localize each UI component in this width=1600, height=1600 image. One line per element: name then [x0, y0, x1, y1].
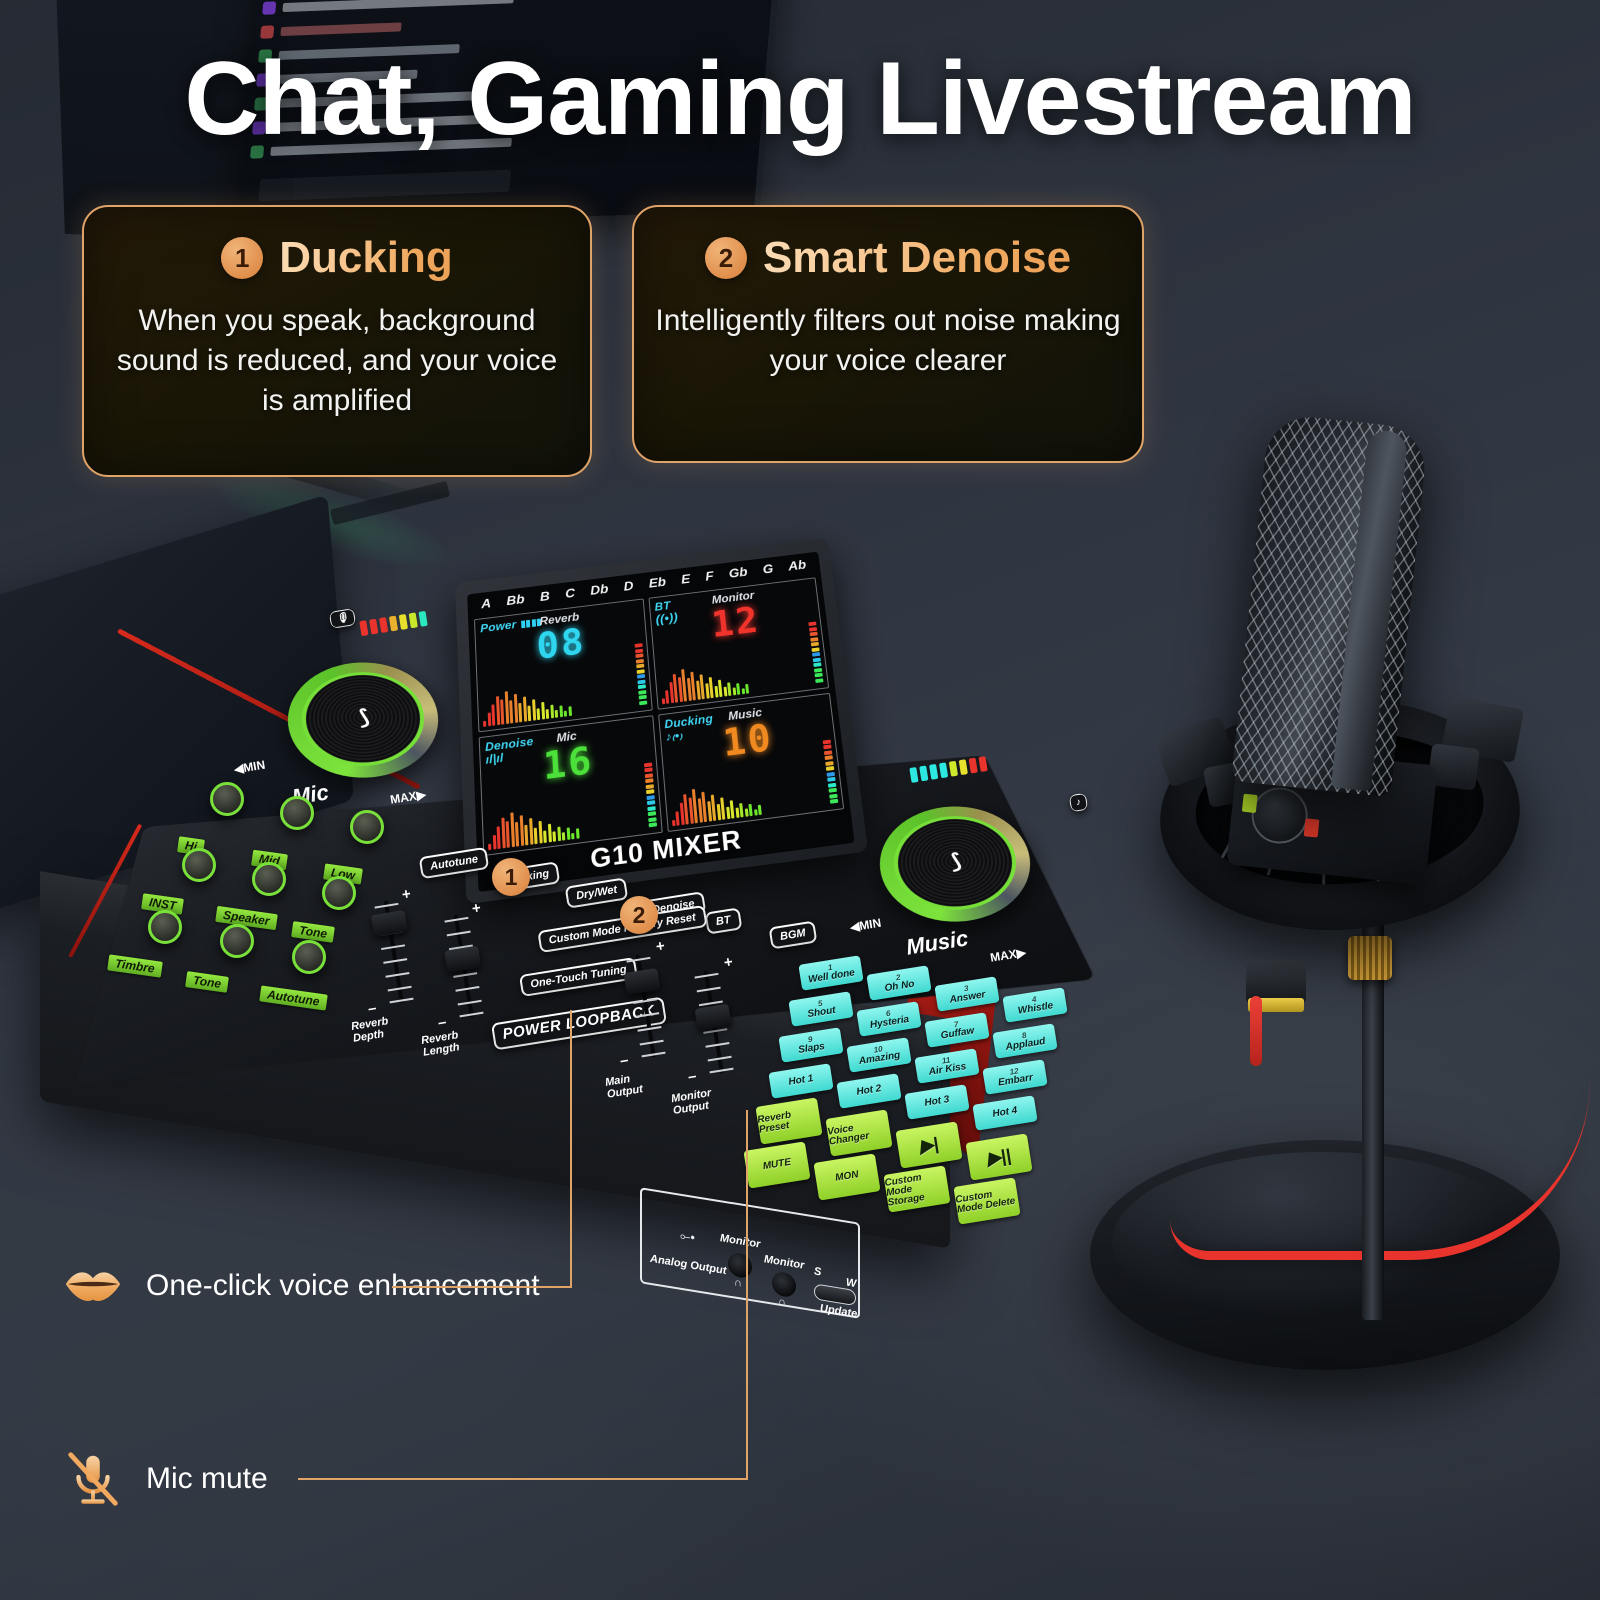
cable-lead — [1250, 996, 1262, 1066]
vu-meter — [804, 584, 824, 682]
note: Gb — [728, 564, 748, 581]
bluetooth-signal-icon: ((•)) — [655, 611, 678, 626]
lcd-cell-label: Power — [480, 618, 517, 635]
headphone-icon: ∩ — [778, 1296, 786, 1309]
feature-card-body: When you speak, background sound is redu… — [104, 301, 570, 422]
lcd-display: A Bb B C Db D Eb E F Gb G Ab — [455, 538, 868, 904]
next-track-icon[interactable]: ▶| — [895, 1121, 962, 1168]
leader-line-voice-enhancement — [392, 1286, 572, 1288]
callout-badge-1: 1 — [492, 858, 530, 896]
music-note-icon: ♪ — [1069, 793, 1088, 813]
sound-pad[interactable]: 4Whistle — [1002, 987, 1067, 1022]
spectrum-meter — [658, 651, 749, 703]
note: Bb — [506, 591, 525, 608]
lcd-cell-monitor: BT ((•)) Monitor 12 — [648, 577, 829, 709]
feature-card-title: Smart Denoise — [763, 233, 1071, 283]
note: Eb — [648, 574, 666, 591]
brand-logo-icon: ⟆ — [357, 705, 369, 729]
knob-hi[interactable] — [210, 782, 244, 816]
pad-custom-mode-delete[interactable]: Custom Mode Delete — [953, 1177, 1020, 1224]
annotation-mic-mute: Mic mute — [62, 1448, 268, 1510]
spectrum-meter — [486, 794, 579, 850]
note: A — [481, 595, 491, 611]
feature-card-header: 1 Ducking — [104, 233, 570, 283]
sound-pad[interactable]: 12Embarr — [982, 1059, 1047, 1094]
mic-thread-nut — [1348, 936, 1392, 980]
line-in-icon: ⟜• — [680, 1228, 695, 1246]
spectrum-meter — [482, 673, 572, 726]
spectrum-meter — [668, 771, 762, 827]
vu-meter — [631, 605, 647, 704]
lcd-cell-value: 08 — [536, 623, 587, 664]
knob-tone-2[interactable] — [220, 924, 254, 958]
note: C — [565, 585, 576, 601]
leader-line-mic-mute-vertical — [746, 1110, 748, 1480]
leader-line-mic-mute — [298, 1478, 748, 1480]
page-title: Chat, Gaming Livestream — [0, 40, 1600, 159]
feature-card-title: Ducking — [279, 233, 453, 283]
knob-mid[interactable] — [280, 796, 314, 830]
note: B — [540, 588, 551, 604]
feature-card-header: 2 Smart Denoise — [654, 233, 1122, 283]
music-volume-knob[interactable]: ⟆ — [874, 800, 1044, 930]
note: Db — [590, 581, 609, 598]
vu-meter — [818, 700, 839, 804]
play-pause-icon[interactable]: ▶|| — [965, 1133, 1032, 1180]
io-label-monitor-1: Monitor — [720, 1232, 760, 1251]
product-marketing-image: Chat, Gaming Livestream 1 Ducking When y… — [0, 0, 1600, 1600]
feature-card-ducking: 1 Ducking When you speak, background sou… — [82, 205, 592, 477]
knob-inst[interactable] — [182, 848, 216, 882]
brand-logo-icon: ⟆ — [949, 849, 961, 873]
vu-meter — [640, 722, 656, 827]
leader-line-voice-enhancement-vertical — [570, 1010, 572, 1288]
mic-led-ring — [359, 611, 428, 636]
annotation-label: Mic mute — [146, 1461, 268, 1498]
headphone-jack-2[interactable] — [772, 1271, 796, 1299]
note: D — [623, 578, 634, 594]
lips-icon — [62, 1255, 124, 1317]
feature-number-badge: 2 — [705, 237, 747, 279]
io-label-monitor-2: Monitor — [764, 1253, 804, 1272]
knob-low[interactable] — [350, 810, 384, 844]
note: E — [681, 571, 691, 586]
lcd-cell-reverb: Power Reverb 08 — [474, 599, 652, 732]
gain-knob-icon[interactable] — [1249, 785, 1311, 847]
lcd-cell-mic: Denoise ıl|ıl Mic 16 — [479, 715, 663, 856]
lcd-cell-value: 16 — [542, 741, 594, 785]
io-label-analog-output: Analog Output — [650, 1253, 726, 1277]
headphone-icon: ∩ — [734, 1276, 742, 1289]
mic-mute-icon — [62, 1448, 124, 1510]
io-label-switch-s: S — [814, 1265, 821, 1278]
note: F — [705, 568, 715, 583]
g10-audio-mixer: A Bb B C Db D Eb E F Gb G Ab — [30, 600, 1160, 1350]
mic-volume-knob[interactable]: ⟆ — [282, 656, 452, 786]
knob-speaker[interactable] — [252, 862, 286, 896]
lcd-cell-music: Ducking ♪₍•₎ Music 10 — [658, 692, 845, 832]
mic-knob-min: ◀MIN — [233, 758, 266, 777]
feature-cards: 1 Ducking When you speak, background sou… — [82, 205, 1144, 477]
lcd-cell-value: 12 — [710, 602, 762, 643]
callout-badge-2: 2 — [620, 896, 658, 934]
headphone-jack-1[interactable] — [728, 1251, 752, 1279]
feature-card-body: Intelligently filters out noise making y… — [654, 301, 1122, 381]
knob-autotune[interactable] — [292, 940, 326, 974]
knob-tone-1[interactable] — [322, 876, 356, 910]
sound-pad[interactable]: 8Applaud — [992, 1023, 1057, 1058]
note: Ab — [787, 557, 806, 573]
knob-timbre[interactable] — [148, 910, 182, 944]
feature-number-badge: 1 — [221, 237, 263, 279]
note: G — [762, 561, 774, 577]
lcd-cell-value: 10 — [721, 718, 774, 761]
mic-icon: 🎙 — [329, 608, 356, 629]
